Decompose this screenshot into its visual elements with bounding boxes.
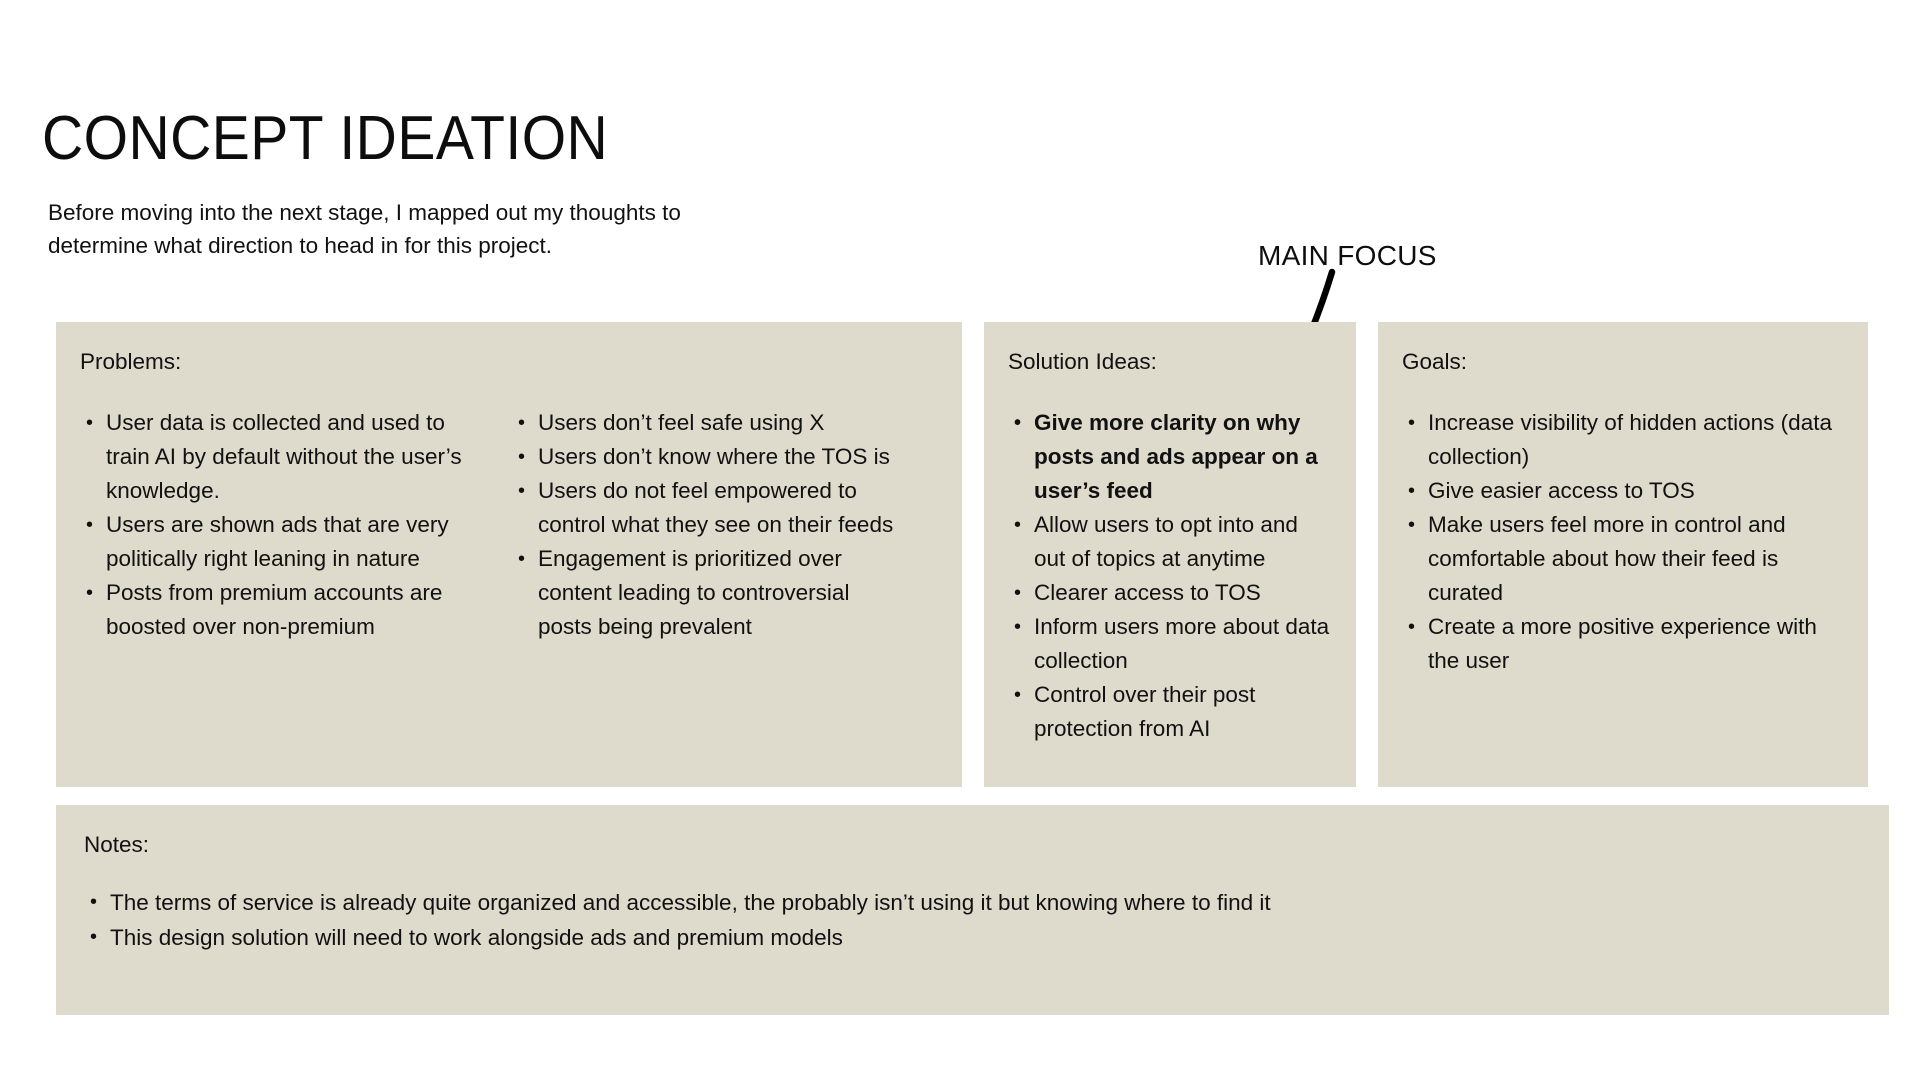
list-item: Make users feel more in control and comf… [1402,508,1844,610]
list-item: Engagement is prioritized over content l… [512,542,904,644]
list-item: User data is collected and used to train… [80,406,484,508]
list-item: Allow users to opt into and out of topic… [1008,508,1332,576]
list-item: Clearer access to TOS [1008,576,1332,610]
list-item: Give easier access to TOS [1402,474,1844,508]
page-subtitle: Before moving into the next stage, I map… [48,196,828,262]
problems-card: Problems: User data is collected and use… [56,322,962,787]
list-item: Users don’t know where the TOS is [512,440,904,474]
solution-ideas-card: Solution Ideas: Give more clarity on why… [984,322,1356,787]
solution-ideas-card-heading: Solution Ideas: [1008,348,1332,376]
list-item: Increase visibility of hidden actions (d… [1402,406,1844,474]
goals-card: Goals: Increase visibility of hidden act… [1378,322,1868,787]
problems-column-a: User data is collected and used to train… [80,406,484,644]
list-item: Users are shown ads that are very politi… [80,508,484,576]
page-subtitle-line-1: Before moving into the next stage, I map… [48,196,828,229]
problems-columns: User data is collected and used to train… [80,406,938,644]
list-item: Control over their post protection from … [1008,678,1332,746]
notes-card: Notes: The terms of service is already q… [56,805,1889,1015]
notes-card-heading: Notes: [84,831,1865,859]
list-item: The terms of service is already quite or… [84,885,1865,920]
notes-list: The terms of service is already quite or… [84,885,1865,955]
list-item: Create a more positive experience with t… [1402,610,1844,678]
main-focus-label: MAIN FOCUS [1258,240,1437,272]
list-item: Users don’t feel safe using X [512,406,904,440]
problems-card-heading: Problems: [80,348,938,376]
list-item: This design solution will need to work a… [84,920,1865,955]
list-item: Inform users more about data collection [1008,610,1332,678]
cards-row: Problems: User data is collected and use… [56,322,1889,787]
problems-column-b: Users don’t feel safe using X Users don’… [512,406,904,644]
page-title: CONCEPT IDEATION [42,108,608,170]
goals-list: Increase visibility of hidden actions (d… [1402,406,1844,678]
goals-card-heading: Goals: [1402,348,1844,376]
list-item: Posts from premium accounts are boosted … [80,576,484,644]
solution-ideas-list: Give more clarity on why posts and ads a… [1008,406,1332,746]
slide-canvas: CONCEPT IDEATION Before moving into the … [0,0,1920,1080]
page-subtitle-line-2: determine what direction to head in for … [48,229,828,262]
list-item-main-focus: Give more clarity on why posts and ads a… [1008,406,1332,508]
list-item: Users do not feel empowered to control w… [512,474,904,542]
